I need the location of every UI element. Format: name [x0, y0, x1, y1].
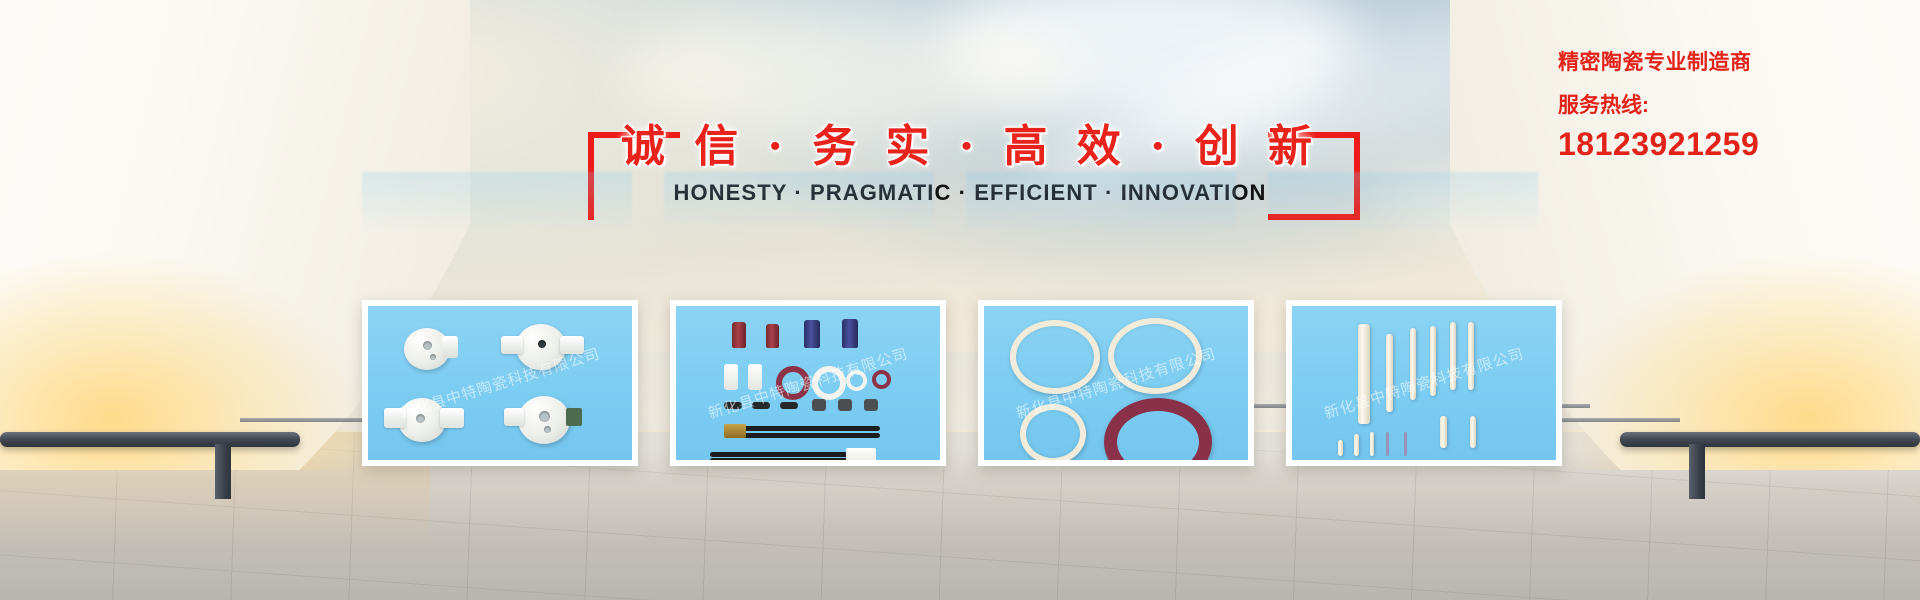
product-ceramic-ring-large [1010, 320, 1100, 394]
product-ceramic-plate [724, 364, 738, 390]
product-ceramic-plate [748, 364, 762, 390]
product-panel[interactable]: 新化县中特陶瓷科技有限公司 [978, 300, 1254, 466]
railing-right [1620, 432, 1920, 447]
product-lamp-holder-tab [560, 336, 584, 354]
railing-post-left [215, 444, 231, 499]
panel-reflection [664, 172, 934, 246]
product-ceramic-rod [1358, 324, 1370, 424]
product-wire [710, 458, 850, 460]
product-wire [740, 433, 880, 438]
product-wire [710, 452, 850, 457]
product-ceramic-rod [1440, 416, 1447, 448]
product-ceramic-tube [732, 322, 746, 348]
product-ceramic-rod [1450, 322, 1456, 390]
slogan-chinese: 诚 信 · 务 实 · 高 效 · 创 新 [560, 110, 1380, 174]
contact-block: 精密陶瓷专业制造商 服务热线: 18123921259 [1558, 52, 1908, 160]
product-panel-image: 新化县中特陶瓷科技有限公司 [984, 306, 1248, 460]
product-ceramic-ring-large [1108, 318, 1202, 394]
product-ceramic-tube [842, 319, 858, 348]
product-ceramic-rod [1468, 322, 1474, 390]
product-ceramic-rod [1410, 328, 1416, 400]
product-ring-red [776, 366, 810, 400]
product-ring-maroon [1104, 398, 1212, 460]
product-contact-pin [566, 408, 582, 426]
product-panel-image: 新化县中特陶瓷科技有限公司 [368, 306, 632, 460]
product-clip [780, 402, 798, 409]
product-brass-connector [724, 424, 746, 438]
product-ceramic-rod [1370, 432, 1374, 456]
panel-reflection [1268, 172, 1538, 246]
product-ceramic-rod [1354, 434, 1359, 456]
product-ceramic-ring-small [1020, 404, 1086, 460]
panel-reflection [966, 172, 1236, 246]
product-panel[interactable]: 新化县中特陶瓷科技有限公司 [362, 300, 638, 466]
product-ceramic-rod [1386, 334, 1393, 412]
product-ceramic-rod [1338, 440, 1343, 456]
product-gallery: 新化县中特陶瓷科技有限公司 [362, 300, 1562, 466]
product-ring-small [846, 370, 867, 391]
product-ceramic-tube [804, 320, 820, 348]
product-ceramic-pin [1386, 432, 1389, 456]
panel-reflection [362, 172, 632, 246]
product-lamp-holder-tab [384, 408, 406, 428]
panel-watermark: 新化县中特陶瓷科技有限公司 [1321, 343, 1526, 424]
product-lamp-holder-tab [501, 336, 523, 354]
hero-banner: 诚 信 · 务 实 · 高 效 · 创 新 HONESTY · PRAGMATI… [0, 0, 1920, 600]
product-wire [740, 426, 880, 431]
product-white-connector [846, 448, 876, 460]
product-lamp-holder-tab [504, 408, 524, 426]
product-terminal [864, 399, 878, 411]
product-ceramic-pin [1404, 432, 1407, 456]
product-lamp-holder [516, 324, 566, 370]
product-lamp-holder-tab [440, 408, 464, 428]
product-clip [724, 402, 742, 409]
product-panel[interactable]: 新化县中特陶瓷科技有限公司 [1286, 300, 1562, 466]
product-panel[interactable]: 新化县中特陶瓷科技有限公司 [670, 300, 946, 466]
product-ring-small [872, 370, 891, 389]
product-lamp-holder [518, 396, 570, 444]
product-lamp-holder-stem [442, 336, 458, 358]
railing-post-right [1689, 444, 1705, 499]
product-ceramic-rod [1470, 416, 1476, 448]
product-clip [752, 402, 770, 409]
product-ceramic-rod [1430, 326, 1436, 396]
product-ceramic-tube [766, 324, 779, 348]
hotline-label: 服务热线: [1558, 95, 1908, 116]
product-panel-image: 新化县中特陶瓷科技有限公司 [1292, 306, 1556, 460]
product-terminal [838, 399, 852, 411]
product-terminal [812, 399, 826, 411]
product-panel-image: 新化县中特陶瓷科技有限公司 [676, 306, 940, 460]
company-tagline: 精密陶瓷专业制造商 [1558, 52, 1908, 73]
product-ring-white [812, 366, 846, 400]
hotline-number[interactable]: 18123921259 [1558, 128, 1908, 160]
railing-left [0, 432, 300, 447]
